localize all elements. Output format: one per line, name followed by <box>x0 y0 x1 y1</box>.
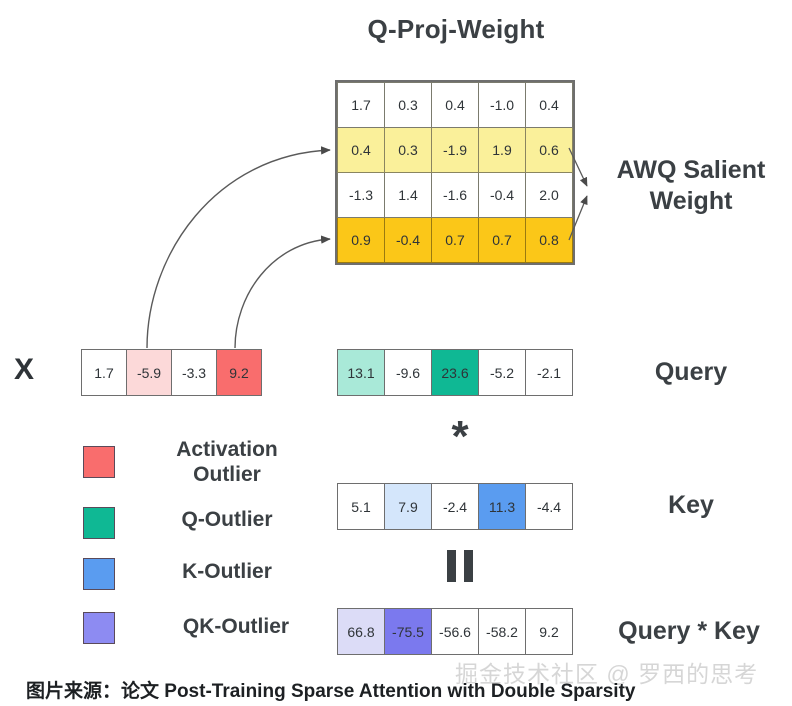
matrix-cell: 0.7 <box>479 218 526 263</box>
matrix-cell: 0.8 <box>526 218 573 263</box>
legend-label-qk-outlier: QK-Outlier <box>141 615 331 640</box>
legend-item-activation-outlier <box>83 446 115 478</box>
query-cell-q-outlier: 23.6 <box>432 350 479 396</box>
qk-outlier-swatch-icon <box>83 612 115 644</box>
key-cell-k-outlier: 11.3 <box>479 484 526 530</box>
query-key-vector-table: 66.8 -75.5 -56.6 -58.2 9.2 <box>337 608 573 655</box>
x-vector-row: 1.7 -5.9 -3.3 9.2 <box>82 350 262 396</box>
legend-label-activation-outlier: Activation Outlier <box>141 438 313 488</box>
awq-label-line1: AWQ Salient <box>596 155 786 186</box>
matrix-table: 1.7 0.3 0.4 -1.0 0.4 0.4 0.3 -1.9 1.9 0.… <box>337 82 573 263</box>
x-cell-activation-outlier-light: -5.9 <box>127 350 172 396</box>
matrix-cell: -1.9 <box>432 128 479 173</box>
matrix-cell: 0.4 <box>338 128 385 173</box>
query-cell: -2.1 <box>526 350 573 396</box>
matrix-cell: -1.6 <box>432 173 479 218</box>
qk-cell: -56.6 <box>432 609 479 655</box>
diagram-canvas: Q-Proj-Weight 1.7 0.3 0.4 -1.0 0.4 0.4 0… <box>0 0 792 706</box>
q-outlier-swatch-icon <box>83 507 115 539</box>
matrix-cell: 1.7 <box>338 83 385 128</box>
key-cell: -2.4 <box>432 484 479 530</box>
matrix-cell: -1.3 <box>338 173 385 218</box>
matrix-row: 1.7 0.3 0.4 -1.0 0.4 <box>338 83 573 128</box>
legend-label-q-outlier: Q-Outlier <box>141 508 313 533</box>
key-vector: 5.1 7.9 -2.4 11.3 -4.4 <box>337 483 573 530</box>
multiply-operator: * <box>425 415 495 459</box>
matrix-cell: -0.4 <box>479 173 526 218</box>
query-cell: -9.6 <box>385 350 432 396</box>
k-outlier-swatch-icon <box>83 558 115 590</box>
matrix-row: -1.3 1.4 -1.6 -0.4 2.0 <box>338 173 573 218</box>
page-title: Q-Proj-Weight <box>331 14 581 45</box>
awq-label-line2: Weight <box>596 186 786 217</box>
legend-item-qk-outlier <box>83 612 115 644</box>
matrix-cell: -0.4 <box>385 218 432 263</box>
matrix-cell: 0.3 <box>385 83 432 128</box>
qk-cell-qk-outlier-light: 66.8 <box>338 609 385 655</box>
query-key-label: Query * Key <box>586 616 792 647</box>
x-cell: -3.3 <box>172 350 217 396</box>
x-vector-label: X <box>14 353 34 387</box>
key-cell-k-outlier-light: 7.9 <box>385 484 432 530</box>
x-vector: 1.7 -5.9 -3.3 9.2 <box>81 349 262 396</box>
key-label: Key <box>596 490 786 521</box>
source-caption: 图片来源：论文 Post-Training Sparse Attention w… <box>26 676 635 703</box>
matrix-body: 1.7 0.3 0.4 -1.0 0.4 0.4 0.3 -1.9 1.9 0.… <box>338 83 573 263</box>
key-cell: 5.1 <box>338 484 385 530</box>
equals-bar-right <box>464 550 473 582</box>
matrix-cell: 0.4 <box>526 83 573 128</box>
matrix-cell: 0.3 <box>385 128 432 173</box>
legend-label-k-outlier: K-Outlier <box>141 560 313 585</box>
query-vector-row: 13.1 -9.6 23.6 -5.2 -2.1 <box>338 350 573 396</box>
qk-cell: 9.2 <box>526 609 573 655</box>
x-cell: 1.7 <box>82 350 127 396</box>
legend-label-line2: Outlier <box>141 463 313 488</box>
matrix-cell: 2.0 <box>526 173 573 218</box>
awq-salient-weight-label: AWQ Salient Weight <box>596 155 786 216</box>
matrix-cell: -1.0 <box>479 83 526 128</box>
query-vector: 13.1 -9.6 23.6 -5.2 -2.1 <box>337 349 573 396</box>
matrix-cell: 1.4 <box>385 173 432 218</box>
matrix-cell: 0.9 <box>338 218 385 263</box>
equals-operator <box>425 550 495 582</box>
matrix-cell: 0.6 <box>526 128 573 173</box>
arrow-activation-to-salient-row-gold <box>235 239 330 348</box>
qk-cell: -58.2 <box>479 609 526 655</box>
activation-outlier-swatch-icon <box>83 446 115 478</box>
legend-item-k-outlier <box>83 558 115 590</box>
query-key-vector-body: 66.8 -75.5 -56.6 -58.2 9.2 <box>338 609 573 655</box>
query-key-vector: 66.8 -75.5 -56.6 -58.2 9.2 <box>337 608 573 655</box>
query-vector-table: 13.1 -9.6 23.6 -5.2 -2.1 <box>337 349 573 396</box>
x-cell-activation-outlier: 9.2 <box>217 350 262 396</box>
x-vector-body: 1.7 -5.9 -3.3 9.2 <box>82 350 262 396</box>
query-label: Query <box>596 357 786 388</box>
key-vector-body: 5.1 7.9 -2.4 11.3 -4.4 <box>338 484 573 530</box>
query-cell: -5.2 <box>479 350 526 396</box>
legend-item-q-outlier <box>83 507 115 539</box>
key-vector-table: 5.1 7.9 -2.4 11.3 -4.4 <box>337 483 573 530</box>
query-key-vector-row: 66.8 -75.5 -56.6 -58.2 9.2 <box>338 609 573 655</box>
arrow-activation-to-salient-row-light <box>147 150 330 348</box>
matrix-row-salient-gold: 0.9 -0.4 0.7 0.7 0.8 <box>338 218 573 263</box>
equals-bar-left <box>447 550 456 582</box>
matrix-row-salient-light: 0.4 0.3 -1.9 1.9 0.6 <box>338 128 573 173</box>
q-proj-weight-matrix: 1.7 0.3 0.4 -1.0 0.4 0.4 0.3 -1.9 1.9 0.… <box>337 82 573 263</box>
qk-cell-qk-outlier: -75.5 <box>385 609 432 655</box>
key-cell: -4.4 <box>526 484 573 530</box>
x-vector-table: 1.7 -5.9 -3.3 9.2 <box>81 349 262 396</box>
query-cell-q-outlier-light: 13.1 <box>338 350 385 396</box>
matrix-cell: 0.7 <box>432 218 479 263</box>
key-vector-row: 5.1 7.9 -2.4 11.3 -4.4 <box>338 484 573 530</box>
matrix-cell: 0.4 <box>432 83 479 128</box>
matrix-cell: 1.9 <box>479 128 526 173</box>
query-vector-body: 13.1 -9.6 23.6 -5.2 -2.1 <box>338 350 573 396</box>
legend-label-line1: Activation <box>141 438 313 463</box>
